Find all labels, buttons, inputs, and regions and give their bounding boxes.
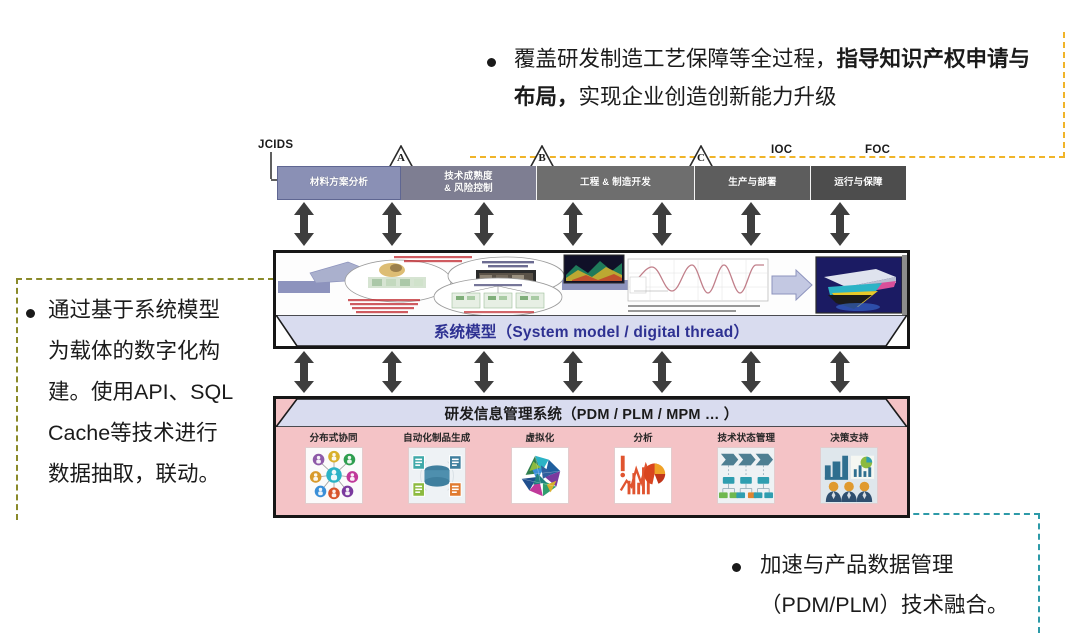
double-arrow-icon bbox=[651, 351, 673, 393]
capability-label: 决策支持 bbox=[830, 430, 868, 444]
info-panel-banner-text: 研发信息管理系统（PDM / PLM / MPM … ） bbox=[276, 399, 907, 427]
bullet-marker bbox=[26, 309, 35, 318]
phase-1-label: 材料方案分析 bbox=[310, 177, 368, 189]
bullet-marker bbox=[487, 58, 496, 67]
bar-pie-chart-icon bbox=[614, 447, 672, 504]
thermal-simulation-plot bbox=[564, 255, 624, 283]
capability-item-analysis[interactable]: 分析 bbox=[592, 430, 695, 511]
system-model-imagery bbox=[276, 253, 907, 318]
phase-4-label: 生产与部署 bbox=[728, 177, 777, 189]
callout-bottom-right: 加速与产品数据管理 （PDM/PLM）技术融合。 bbox=[712, 513, 1040, 633]
callout-left: 通过基于系统模型 为载体的数字化构 建。使用API、SQL Cache等技术进行… bbox=[16, 278, 274, 520]
double-arrow-icon bbox=[473, 202, 495, 246]
double-arrow-icon bbox=[381, 202, 403, 246]
callout-top-line1: 覆盖研发制造工艺保障等全过程， bbox=[514, 47, 837, 71]
3d-layered-model-render bbox=[816, 257, 902, 313]
phase-2[interactable]: 技术成熟度 & 风险控制 bbox=[401, 166, 537, 200]
double-arrow-icon bbox=[829, 351, 851, 393]
system-model-banner-cn: 系统模型 bbox=[434, 320, 497, 342]
capability-list: 分布式协同 bbox=[276, 428, 907, 515]
callout-bottom-right-text: 加速与产品数据管理 （PDM/PLM）技术融合。 bbox=[760, 545, 1050, 625]
network-people-icon bbox=[305, 447, 363, 504]
milestone-label-a: A bbox=[388, 152, 414, 164]
milestone-label-jcids: JCIDS bbox=[258, 139, 293, 151]
double-arrow-icon bbox=[829, 202, 851, 246]
double-arrow-icon bbox=[740, 202, 762, 246]
milestone-label-ioc: IOC bbox=[771, 144, 792, 156]
double-arrow-icon bbox=[740, 351, 762, 393]
capability-item-distributed-collaboration[interactable]: 分布式协同 bbox=[282, 430, 385, 511]
system-model-banner-en: （System model / digital thread） bbox=[497, 320, 750, 342]
capability-label: 自动化制品生成 bbox=[403, 430, 470, 444]
callout-left-text: 通过基于系统模型 为载体的数字化构 建。使用API、SQL Cache等技术进行… bbox=[48, 290, 272, 495]
capability-label: 虚拟化 bbox=[526, 430, 555, 444]
double-arrow-icon bbox=[562, 202, 584, 246]
capability-label: 技术状态管理 bbox=[717, 430, 775, 444]
phase-3[interactable]: 工程 & 制造开发 bbox=[537, 166, 695, 200]
signal-waveform-chart bbox=[628, 259, 768, 301]
milestone-label-b: B bbox=[529, 152, 555, 164]
callout-top-right-text: 覆盖研发制造工艺保障等全过程，指导知识产权申请与布局，实现企业创造创新能力升级 bbox=[514, 40, 1034, 116]
phase-5-label: 运行与保障 bbox=[834, 177, 883, 189]
milestone-label-c: C bbox=[688, 152, 714, 164]
callout-top-bold1: 指导知识产 bbox=[837, 47, 945, 71]
callout-top-line2: 实现企业创造创新能力升级 bbox=[579, 85, 837, 109]
phase-2-label: 技术成熟度 & 风险控制 bbox=[444, 171, 493, 195]
double-arrow-icon bbox=[473, 351, 495, 393]
info-panel-banner: 研发信息管理系统（PDM / PLM / MPM … ） bbox=[276, 399, 907, 427]
mesh-model-icon bbox=[511, 447, 569, 504]
system-model-banner-text: 系统模型（System model / digital thread） bbox=[276, 315, 907, 346]
double-arrow-icon bbox=[562, 351, 584, 393]
phase-4[interactable]: 生产与部署 bbox=[695, 166, 811, 200]
capability-item-automated-artifact-generation[interactable]: 自动化制品生成 bbox=[385, 430, 488, 511]
system-model-banner: 系统模型（System model / digital thread） bbox=[276, 315, 907, 346]
double-arrow-icon bbox=[651, 202, 673, 246]
double-arrow-icon bbox=[293, 202, 315, 246]
factory-people-icon bbox=[820, 447, 878, 504]
slide-canvas: 覆盖研发制造工艺保障等全过程，指导知识产权申请与布局，实现企业创造创新能力升级 … bbox=[0, 0, 1080, 641]
database-documents-icon bbox=[408, 447, 466, 504]
bullet-marker bbox=[732, 563, 741, 572]
capability-label: 分布式协同 bbox=[310, 430, 358, 444]
double-arrow-icon bbox=[293, 351, 315, 393]
capability-item-decision-support[interactable]: 决策支持 bbox=[798, 430, 901, 511]
arrow-row-upper bbox=[277, 202, 906, 246]
capability-item-virtualization[interactable]: 虚拟化 bbox=[488, 430, 591, 511]
capability-label: 分析 bbox=[634, 430, 653, 444]
double-arrow-icon bbox=[381, 351, 403, 393]
phase-5[interactable]: 运行与保障 bbox=[811, 166, 906, 200]
phase-3-label: 工程 & 制造开发 bbox=[580, 177, 651, 189]
milestone-label-foc: FOC bbox=[865, 144, 890, 156]
capability-item-configuration-management[interactable]: 技术状态管理 bbox=[695, 430, 798, 511]
rnd-info-management-panel: 研发信息管理系统（PDM / PLM / MPM … ） 分布式协同 bbox=[273, 396, 910, 518]
process-flow-tree-icon bbox=[717, 447, 775, 504]
phase-1[interactable]: 材料方案分析 bbox=[277, 166, 401, 200]
system-model-panel: 系统模型（System model / digital thread） bbox=[273, 250, 910, 349]
arrow-row-lower bbox=[277, 351, 906, 393]
lifecycle-phase-bar: 材料方案分析 技术成熟度 & 风险控制 工程 & 制造开发 生产与部署 运行与保… bbox=[277, 166, 906, 200]
